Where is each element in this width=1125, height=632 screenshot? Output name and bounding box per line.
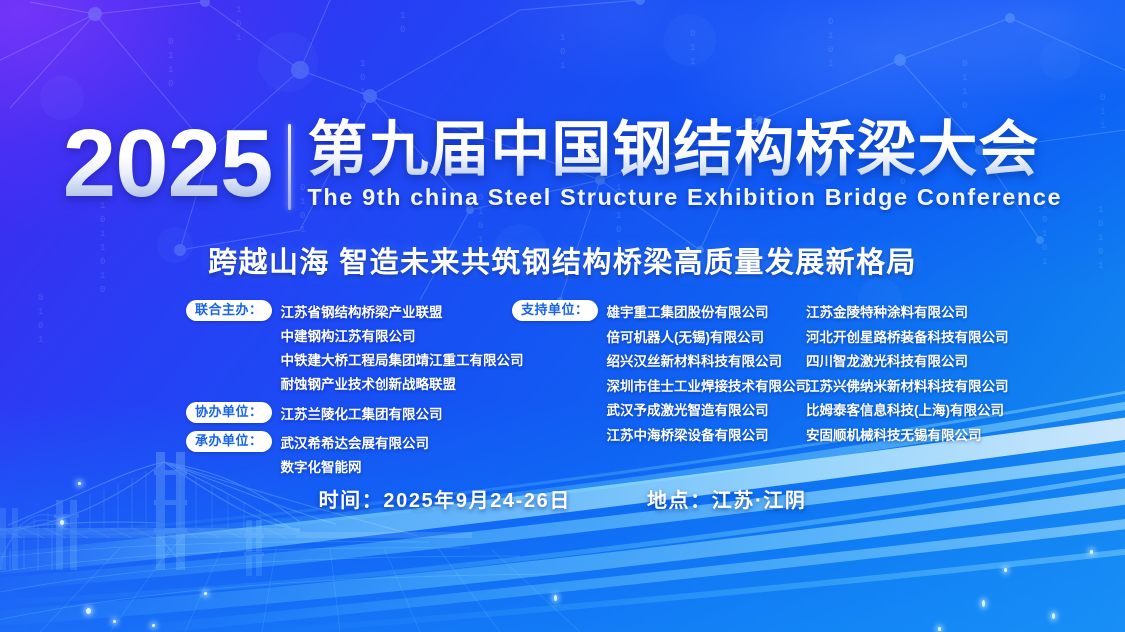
organizer-name: 倍可机器人(无锡)有限公司 [607, 326, 810, 351]
organizer-section: 联合主办： 江苏省钢结构桥梁产业联盟 中建钢构江苏有限公司 中铁建大桥工程局集团… [0, 300, 1125, 450]
co-host-names: 江苏省钢结构桥梁产业联盟 中建钢构江苏有限公司 中铁建大桥工程局集团靖江重工有限… [281, 300, 524, 397]
organizer-name: 雄宇重工集团股份有限公司 [607, 301, 810, 326]
organizer-name: 武汉予成激光智造有限公司 [607, 399, 810, 424]
organizer-name: 深圳市佳士工业焊接技术有限公司 [607, 375, 810, 400]
organizer-name: 数字化智能网 [281, 456, 430, 480]
organizer-column-middle: 支持单位： 雄宇重工集团股份有限公司 倍可机器人(无锡)有限公司 绍兴汉丝新材料… [512, 300, 802, 450]
organizer-name: 安固顺机械科技无锡有限公司 [806, 424, 1021, 449]
organizer-name: 江苏金陵特种涂料有限公司 [806, 301, 1021, 326]
event-footer: 时间：2025年9月24-26日 地点：江苏·江阴 [0, 484, 1125, 513]
host-names: 武汉希希达会展有限公司 数字化智能网 [281, 431, 430, 480]
label-co-host: 联合主办： [186, 300, 272, 321]
organizer-name: 河北开创星路桥装备科技有限公司 [806, 326, 1021, 351]
organizer-name: 四川智龙激光科技有限公司 [806, 350, 1021, 375]
organizer-name: 耐蚀钢产业技术创新战略联盟 [281, 373, 524, 397]
organizer-group-supporters: 支持单位： 雄宇重工集团股份有限公司 倍可机器人(无锡)有限公司 绍兴汉丝新材料… [512, 300, 802, 449]
conference-title-cn: 第九届中国钢结构桥梁大会 [307, 118, 1062, 182]
event-date: 时间：2025年9月24-26日 [319, 484, 571, 513]
label-co-organizer: 协办单位： [186, 402, 272, 423]
organizer-name: 江苏兴佛纳米新材料科技有限公司 [806, 375, 1021, 400]
label-host: 承办单位： [186, 431, 272, 452]
organizer-name: 江苏兰陵化工集团有限公司 [281, 403, 443, 427]
year-number: 2025 [63, 118, 289, 209]
organizer-name: 比姆泰客信息科技(上海)有限公司 [806, 399, 1021, 424]
organizer-name: 中铁建大桥工程局集团靖江重工有限公司 [281, 349, 524, 373]
conference-slogan: 跨越山海 智造未来共筑钢结构桥梁高质量发展新格局 [0, 239, 1125, 281]
title-divider [288, 124, 291, 210]
conference-banner: 0101 1011 010 0110 101 0101 1010 10 0101… [0, 0, 1125, 632]
organizer-name: 中建钢构江苏有限公司 [281, 325, 524, 349]
supporter-names: 雄宇重工集团股份有限公司 倍可机器人(无锡)有限公司 绍兴汉丝新材料科技有限公司… [607, 300, 810, 449]
organizer-name: 绍兴汉丝新材料科技有限公司 [607, 350, 810, 375]
organizer-name: 武汉希希达会展有限公司 [281, 432, 430, 456]
organizer-name: 江苏中海桥梁设备有限公司 [607, 424, 810, 449]
organizer-group-host: 承办单位： 武汉希希达会展有限公司 数字化智能网 [186, 431, 506, 480]
organizer-name: 江苏省钢结构桥梁产业联盟 [281, 301, 524, 325]
label-supporter: 支持单位： [512, 300, 598, 321]
title-block: 第九届中国钢结构桥梁大会 The 9th china Steel Structu… [307, 118, 1062, 211]
organizer-group-co-organizer: 协办单位： 江苏兰陵化工集团有限公司 [186, 402, 506, 427]
conference-title-en: The 9th china Steel Structure Exhibition… [307, 184, 1062, 211]
event-location: 地点：江苏·江阴 [647, 484, 806, 513]
organizer-group-co-host: 联合主办： 江苏省钢结构桥梁产业联盟 中建钢构江苏有限公司 中铁建大桥工程局集团… [186, 300, 506, 397]
supporter-names-continued: 江苏金陵特种涂料有限公司 河北开创星路桥装备科技有限公司 四川智龙激光科技有限公… [806, 300, 1021, 449]
organizer-column-right: 江苏金陵特种涂料有限公司 河北开创星路桥装备科技有限公司 四川智龙激光科技有限公… [806, 300, 1021, 449]
masthead: 2025 第九届中国钢结构桥梁大会 The 9th china Steel St… [0, 118, 1125, 211]
organizer-column-left: 联合主办： 江苏省钢结构桥梁产业联盟 中建钢构江苏有限公司 中铁建大桥工程局集团… [186, 300, 506, 481]
co-organizer-names: 江苏兰陵化工集团有限公司 [281, 402, 443, 427]
